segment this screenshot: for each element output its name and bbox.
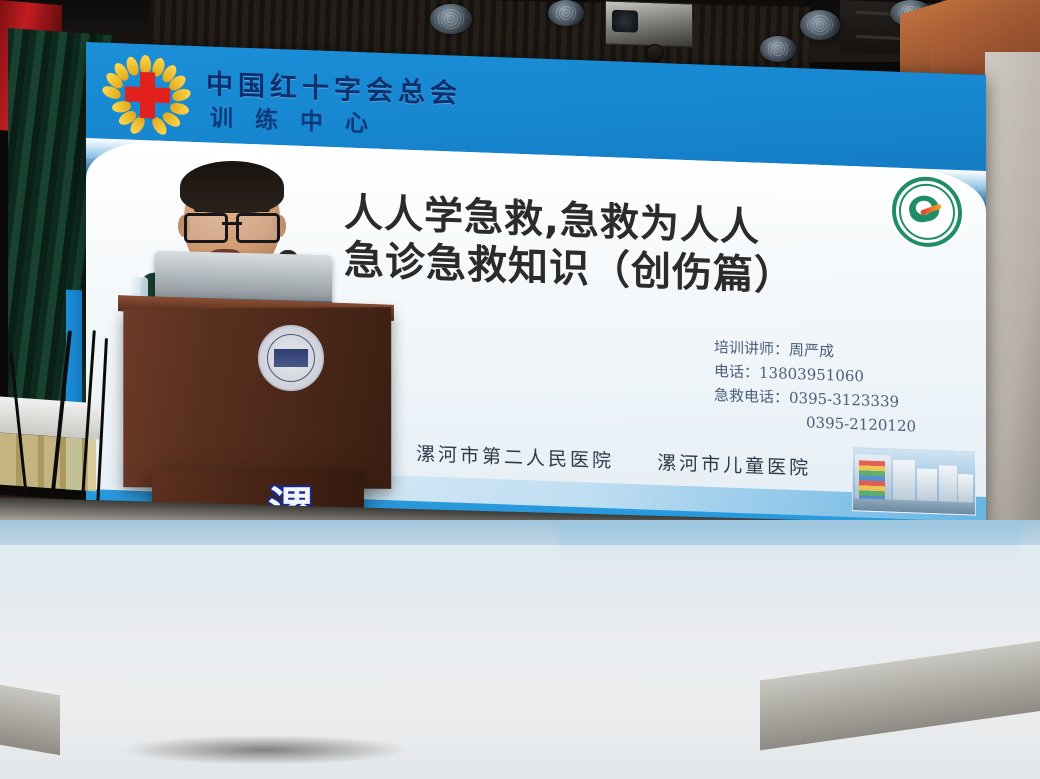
presenter-hair <box>180 161 284 213</box>
podium-front-panel <box>123 307 391 489</box>
stage-light-2 <box>548 0 584 26</box>
hospital-building-photo <box>852 447 976 516</box>
stage-light-3 <box>800 10 840 40</box>
crest-building-icon <box>274 349 308 367</box>
school-crest <box>258 325 324 391</box>
stage-light-4 <box>760 36 796 62</box>
stage-photo-scene: 中国红十字会总会 训练中心 人人学急救,急救为人人 急诊急救知识（创伤篇） 培训… <box>0 0 1040 779</box>
red-cross-emblem <box>104 57 190 134</box>
stage-step-left <box>0 685 60 756</box>
cross-horizontal <box>125 86 170 103</box>
floor-gloss <box>0 545 1040 615</box>
projector-lens-icon <box>612 10 638 33</box>
right-wall <box>985 52 1040 572</box>
hospital-name-2: 漯河市儿童医院 <box>657 452 811 480</box>
slide-contact-block: 培训讲师：周严成 电话：13803951060 急救电话：0395-312333… <box>714 335 916 438</box>
podium-shadow <box>120 735 410 765</box>
slide-org-line2: 训练中心 <box>210 99 390 140</box>
ceiling-projector <box>605 0 693 47</box>
building-colored-facade <box>859 460 885 501</box>
stage-light-1 <box>430 4 472 34</box>
glasses-icon <box>184 213 280 239</box>
ceiling-fixture <box>646 44 664 62</box>
water-bottle-cap <box>132 272 147 281</box>
